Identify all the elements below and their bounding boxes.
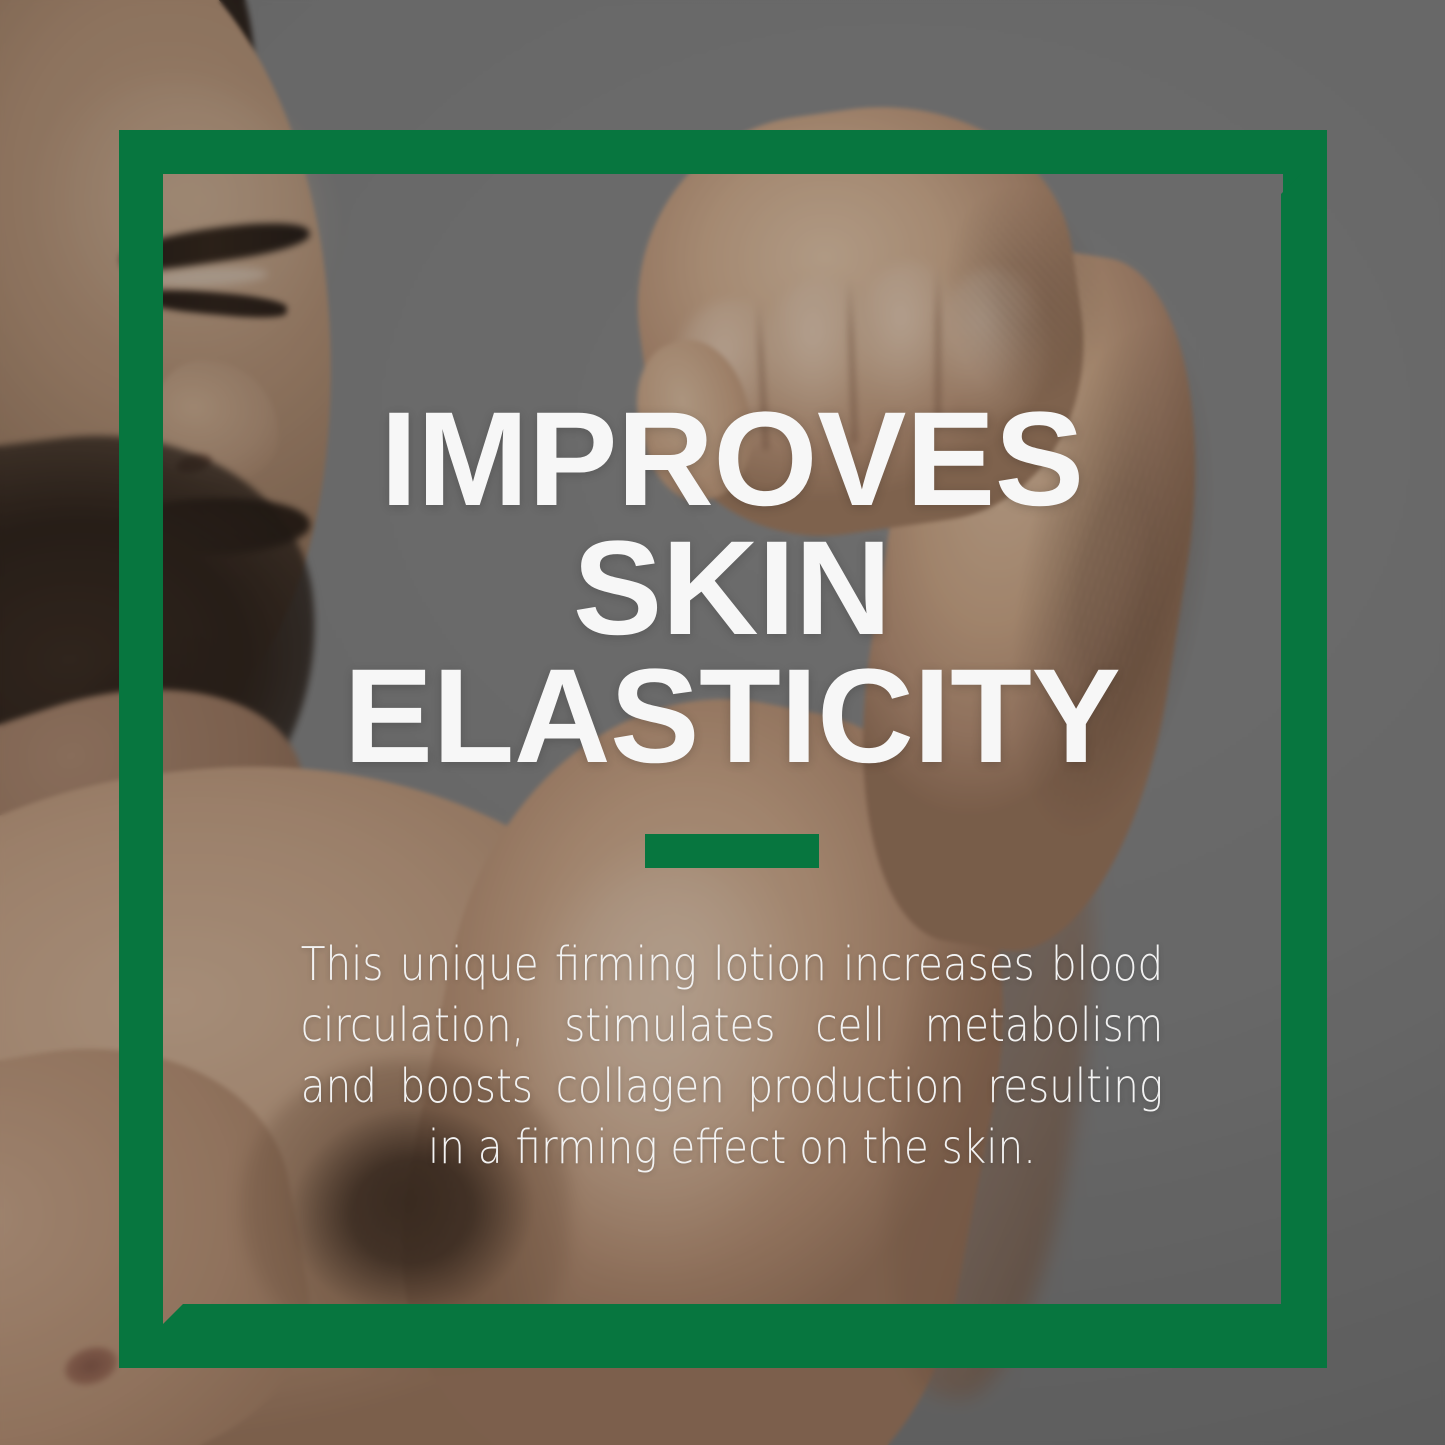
text-content-block: IMPROVES SKIN ELASTICITY This unique fir… <box>163 174 1301 1324</box>
green-divider-bar <box>645 834 819 868</box>
page-title: IMPROVES SKIN ELASTICITY <box>227 396 1237 782</box>
headline-line-2: ELASTICITY <box>344 642 1121 791</box>
body-paragraph: This unique firming lotion increases blo… <box>301 934 1163 1179</box>
headline-line-1: IMPROVES SKIN <box>380 385 1083 663</box>
promo-poster: IMPROVES SKIN ELASTICITY This unique fir… <box>0 0 1445 1445</box>
